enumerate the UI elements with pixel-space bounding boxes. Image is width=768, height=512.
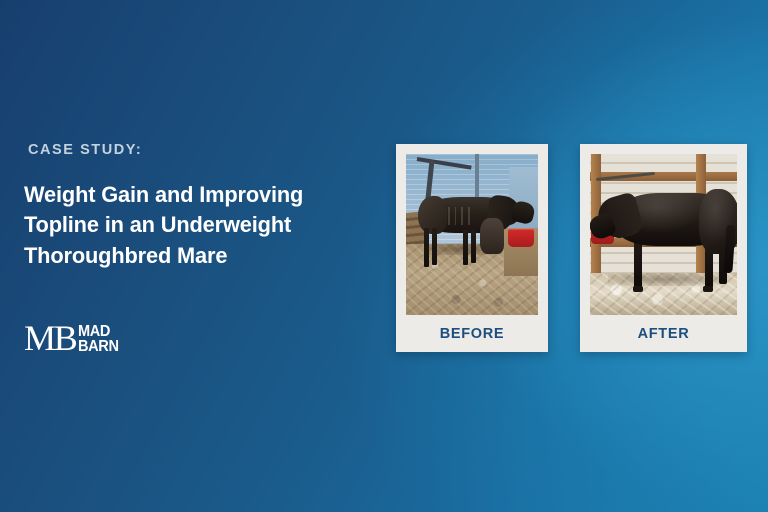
mad-barn-logo[interactable]: MB MAD BARN: [24, 322, 121, 355]
before-horse-leg: [432, 228, 437, 265]
after-horse-hoof: [703, 286, 713, 292]
page-title: Weight Gain and Improving Topline in an …: [24, 180, 364, 273]
logo-wordmark-line2: BARN: [78, 338, 119, 355]
before-rib-line: [448, 207, 450, 225]
text-panel: CASE STUDY: Weight Gain and Improving To…: [24, 143, 374, 272]
before-horse-leg: [471, 230, 476, 264]
after-photo: [590, 154, 737, 315]
before-second-horse: [480, 218, 504, 253]
after-photo-card[interactable]: AFTER: [580, 144, 747, 352]
before-horse-leg: [424, 228, 429, 267]
after-horse-hoof: [633, 286, 643, 292]
logo-monogram: MB: [24, 322, 76, 355]
before-rib-line: [468, 207, 470, 225]
before-rib-line: [455, 207, 457, 225]
before-horse-leg: [463, 230, 468, 265]
before-rib-line: [461, 207, 463, 225]
eyebrow-label: CASE STUDY:: [28, 143, 374, 158]
before-caption: BEFORE: [406, 315, 538, 352]
before-photo-card[interactable]: BEFORE: [396, 144, 548, 352]
before-photo: [406, 154, 538, 315]
case-study-banner: CASE STUDY: Weight Gain and Improving To…: [0, 0, 768, 512]
after-ground-shadow: [608, 273, 720, 286]
after-caption: AFTER: [590, 315, 737, 352]
before-red-feed-bucket: [508, 230, 534, 248]
logo-wordmark: MAD BARN: [78, 323, 119, 355]
